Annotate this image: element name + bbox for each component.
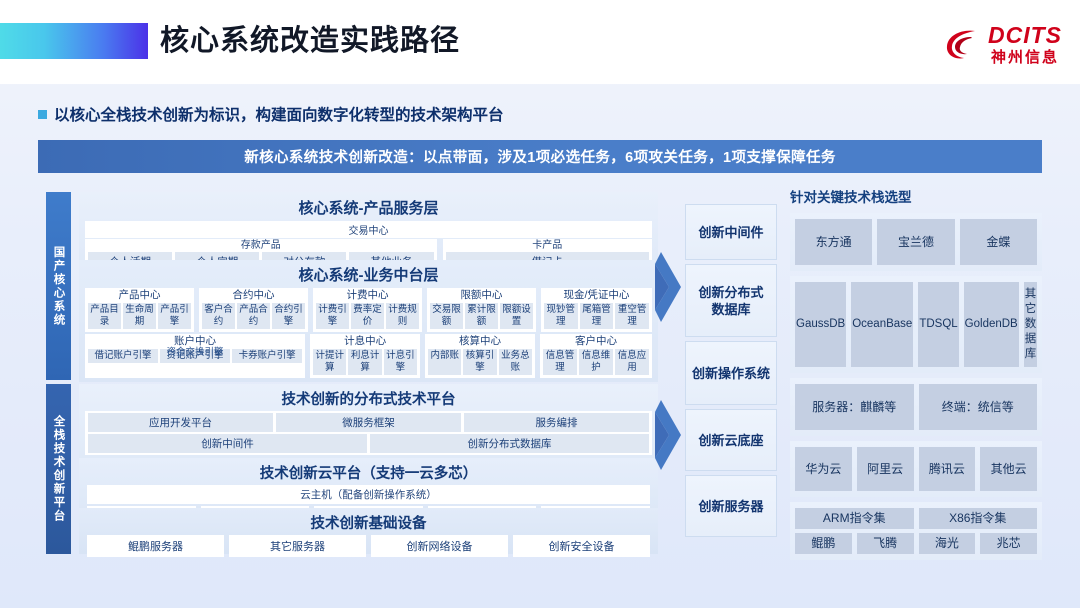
center-title: 限额中心 bbox=[430, 289, 533, 302]
chip-cell[interactable]: 飞腾 bbox=[857, 533, 914, 554]
slide-header: 核心系统改造实践路径 DCITS 神州信息 bbox=[0, 0, 1080, 84]
vendor-cell[interactable]: 终端：统信等 bbox=[919, 384, 1038, 430]
center-item[interactable]: 生命周期 bbox=[123, 303, 156, 329]
innovation-category-column: 创新中间件 创新分布式 数据库 创新操作系统 创新云底座 创新服务器 bbox=[685, 204, 777, 541]
vendor-cell[interactable]: 服务器：麒麟等 bbox=[795, 384, 914, 430]
vendor-cell[interactable]: 金蝶 bbox=[960, 219, 1037, 265]
bml-row-2: 账户中心 借记账户引擎 贷记账户引擎 卡券账户引擎 资金交换引擎 计息中心 计提… bbox=[85, 334, 652, 378]
dcits-logo: DCITS 神州信息 bbox=[942, 20, 1062, 68]
innovation-server[interactable]: 创新服务器 bbox=[685, 475, 777, 537]
center-item[interactable]: 重空管理 bbox=[615, 303, 649, 329]
vendor-cell[interactable]: GoldenDB bbox=[964, 282, 1019, 367]
psl-title: 核心系统-产品服务层 bbox=[79, 197, 658, 218]
center-interest: 计息中心 计提计算 利息计算 计息引擎 bbox=[310, 334, 420, 378]
vendor-cell[interactable]: 宝兰德 bbox=[877, 219, 954, 265]
vendor-cell[interactable]: TDSQL bbox=[918, 282, 958, 367]
innovation-os[interactable]: 创新操作系统 bbox=[685, 341, 777, 405]
center-accounting: 核算中心 内部账 核算引擎 业务总账 bbox=[425, 334, 535, 378]
logo-en-text: DCITS bbox=[988, 24, 1062, 47]
infra-item[interactable]: 创新网络设备 bbox=[371, 535, 508, 557]
dtp-row-2: 创新中间件 创新分布式数据库 bbox=[88, 434, 649, 453]
center-item[interactable]: 累计限额 bbox=[465, 303, 498, 329]
vtab-tech-platform: 全栈技术创新平台 bbox=[46, 384, 71, 554]
center-title: 现金/凭证中心 bbox=[544, 289, 649, 302]
dtp-item[interactable]: 创新分布式数据库 bbox=[370, 434, 649, 453]
dtp-row-1: 应用开发平台 微服务框架 服务编排 bbox=[88, 413, 649, 432]
database-vendor-group: GaussDB OceanBase TDSQL GoldenDB 其它数据库 bbox=[790, 276, 1042, 373]
center-item[interactable]: 信息应用 bbox=[615, 349, 649, 375]
chip-cell[interactable]: 兆芯 bbox=[980, 533, 1037, 554]
infra-title: 技术创新基础设备 bbox=[79, 512, 658, 533]
slide-root: 核心系统改造实践路径 DCITS 神州信息 以核心全栈技术创新为标识，构建面向数… bbox=[0, 0, 1080, 608]
infra-item[interactable]: 鲲鹏服务器 bbox=[87, 535, 224, 557]
center-item[interactable]: 业务总账 bbox=[499, 349, 532, 375]
subtitle: 以核心全栈技术创新为标识，构建面向数字化转型的技术架构平台 bbox=[38, 103, 504, 125]
infra-item[interactable]: 创新安全设备 bbox=[513, 535, 650, 557]
center-item[interactable]: 产品合约 bbox=[237, 303, 270, 329]
center-title: 计费中心 bbox=[316, 289, 419, 302]
center-item[interactable]: 利息计算 bbox=[348, 349, 381, 375]
bml-row-1: 产品中心 产品目录 生命周期 产品引擎 合约中心 客户合约 产品合约 合约引擎 bbox=[85, 288, 652, 332]
center-item[interactable]: 客户合约 bbox=[202, 303, 235, 329]
flow-arrow-lower-icon bbox=[653, 398, 683, 472]
header-accent-bar bbox=[0, 23, 148, 59]
center-customer: 客户中心 信息管理 信息维护 信息应用 bbox=[540, 334, 652, 378]
center-account: 账户中心 借记账户引擎 贷记账户引擎 卡券账户引擎 资金交换引擎 bbox=[85, 334, 305, 378]
infrastructure-layer: 技术创新基础设备 鲲鹏服务器 其它服务器 创新网络设备 创新安全设备 bbox=[79, 508, 658, 554]
center-item[interactable]: 信息维护 bbox=[579, 349, 613, 375]
innovation-database[interactable]: 创新分布式 数据库 bbox=[685, 264, 777, 337]
center-item[interactable]: 计提计算 bbox=[313, 349, 346, 375]
infra-items: 鲲鹏服务器 其它服务器 创新网络设备 创新安全设备 bbox=[87, 535, 650, 557]
center-item[interactable]: 计费规则 bbox=[386, 303, 419, 329]
center-item[interactable]: 限额设置 bbox=[500, 303, 533, 329]
dcits-swirl-icon bbox=[942, 24, 982, 64]
cloud-vendor-group: 华为云 阿里云 腾讯云 其他云 bbox=[790, 441, 1042, 497]
center-item[interactable]: 交易限额 bbox=[430, 303, 463, 329]
center-title: 计息中心 bbox=[313, 335, 417, 348]
dtp-item[interactable]: 应用开发平台 bbox=[88, 413, 273, 432]
center-limit: 限额中心 交易限额 累计限额 限额设置 bbox=[427, 288, 536, 332]
business-middle-layer: 核心系统-业务中台层 产品中心 产品目录 生命周期 产品引擎 合约中心 客户合约… bbox=[79, 260, 658, 382]
infra-item[interactable]: 其它服务器 bbox=[229, 535, 366, 557]
center-title: 客户中心 bbox=[543, 335, 649, 348]
center-item[interactable]: 合约引擎 bbox=[272, 303, 305, 329]
vendor-cell[interactable]: GaussDB bbox=[795, 282, 846, 367]
instruction-set-cell[interactable]: X86指令集 bbox=[919, 508, 1038, 529]
innovation-middleware[interactable]: 创新中间件 bbox=[685, 204, 777, 260]
cloud-host-item[interactable]: 云主机（配备创新操作系统） bbox=[87, 485, 650, 504]
page-title: 核心系统改造实践路径 bbox=[160, 20, 460, 62]
middleware-vendor-group: 东方通 宝兰德 金蝶 bbox=[790, 213, 1042, 271]
vendor-cell[interactable]: 腾讯云 bbox=[919, 447, 976, 491]
innovation-cloud-base[interactable]: 创新云底座 bbox=[685, 409, 777, 471]
bml-title: 核心系统-业务中台层 bbox=[79, 264, 658, 285]
vendor-cell[interactable]: OceanBase bbox=[851, 282, 913, 367]
dtp-item[interactable]: 微服务框架 bbox=[276, 413, 461, 432]
center-product: 产品中心 产品目录 生命周期 产品引擎 bbox=[85, 288, 194, 332]
tech-stack-selection-column: 针对关键技术栈选型 东方通 宝兰德 金蝶 GaussDB OceanBase T… bbox=[790, 186, 1042, 565]
logo-cn-text: 神州信息 bbox=[991, 50, 1059, 65]
banner-text: 新核心系统技术创新改造：以点带面，涉及1项必选任务，6项攻关任务，1项支撑保障任… bbox=[244, 146, 836, 167]
trade-center-label: 交易中心 bbox=[85, 221, 652, 238]
vendor-cell[interactable]: 其他云 bbox=[980, 447, 1037, 491]
vtab-core-system: 国产核心系统 bbox=[46, 192, 71, 380]
center-item[interactable]: 现钞管理 bbox=[544, 303, 578, 329]
cloud-platform: 技术创新云平台（支持一云多芯） 云主机（配备创新操作系统） 弹性计算 云存储 云… bbox=[79, 458, 658, 510]
chip-cell[interactable]: 鲲鹏 bbox=[795, 533, 852, 554]
dtp-item[interactable]: 服务编排 bbox=[464, 413, 649, 432]
bullet-square-icon bbox=[38, 110, 47, 119]
vendor-cell[interactable]: 其它数据库 bbox=[1024, 282, 1038, 367]
center-item[interactable]: 核算引擎 bbox=[463, 349, 496, 375]
center-item[interactable]: 信息管理 bbox=[543, 349, 577, 375]
os-vendor-group: 服务器：麒麟等 终端：统信等 bbox=[790, 378, 1042, 436]
center-item[interactable]: 卡券账户引擎 bbox=[232, 349, 302, 363]
center-title: 核算中心 bbox=[428, 335, 532, 348]
fund-exchange-engine-label: 资金交换引擎 bbox=[167, 344, 224, 358]
center-item[interactable]: 计息引擎 bbox=[384, 349, 417, 375]
center-item[interactable]: 内部账 bbox=[428, 349, 461, 375]
tech-stack-title: 针对关键技术栈选型 bbox=[790, 186, 1042, 206]
center-cash-voucher: 现金/凭证中心 现钞管理 尾箱管理 重空管理 bbox=[541, 288, 652, 332]
dtp-item[interactable]: 创新中间件 bbox=[88, 434, 367, 453]
center-item[interactable]: 产品引擎 bbox=[158, 303, 191, 329]
center-item[interactable]: 费率定价 bbox=[351, 303, 384, 329]
chip-cell[interactable]: 海光 bbox=[919, 533, 976, 554]
cloud-title: 技术创新云平台（支持一云多芯） bbox=[79, 462, 658, 483]
vendor-cell[interactable]: 华为云 bbox=[795, 447, 852, 491]
center-contract: 合约中心 客户合约 产品合约 合约引擎 bbox=[199, 288, 308, 332]
instruction-set-cell[interactable]: ARM指令集 bbox=[795, 508, 914, 529]
highlight-banner: 新核心系统技术创新改造：以点带面，涉及1项必选任务，6项攻关任务，1项支撑保障任… bbox=[38, 140, 1042, 173]
architecture-panel: 国产核心系统 全栈技术创新平台 核心系统-产品服务层 交易中心 存款产品 个人活… bbox=[46, 192, 658, 554]
center-title: 合约中心 bbox=[202, 289, 305, 302]
vendor-cell[interactable]: 阿里云 bbox=[857, 447, 914, 491]
center-title: 产品中心 bbox=[88, 289, 191, 302]
center-item[interactable]: 尾箱管理 bbox=[580, 303, 614, 329]
flow-arrow-upper-icon bbox=[653, 250, 683, 324]
dtp-title: 技术创新的分布式技术平台 bbox=[79, 388, 658, 409]
center-billing: 计费中心 计费引擎 费率定价 计费规则 bbox=[313, 288, 422, 332]
deposit-group-label: 存款产品 bbox=[88, 240, 434, 252]
chip-vendor-group: ARM指令集 X86指令集 鲲鹏 飞腾 海光 兆芯 bbox=[790, 502, 1042, 560]
distributed-tech-platform: 技术创新的分布式技术平台 应用开发平台 微服务框架 服务编排 创新中间件 创新分… bbox=[79, 384, 658, 460]
vendor-cell[interactable]: 东方通 bbox=[795, 219, 872, 265]
logo-wordmark: DCITS 神州信息 bbox=[988, 24, 1062, 65]
card-group-label: 卡产品 bbox=[446, 240, 649, 252]
center-item[interactable]: 借记账户引擎 bbox=[88, 349, 158, 363]
subtitle-text: 以核心全栈技术创新为标识，构建面向数字化转型的技术架构平台 bbox=[54, 103, 504, 125]
center-item[interactable]: 产品目录 bbox=[88, 303, 121, 329]
product-service-layer: 核心系统-产品服务层 交易中心 存款产品 个人活期 个人定期 对公存款 其他业务… bbox=[79, 192, 658, 266]
center-item[interactable]: 计费引擎 bbox=[316, 303, 349, 329]
dtp-body: 应用开发平台 微服务框架 服务编排 创新中间件 创新分布式数据库 bbox=[85, 411, 652, 455]
